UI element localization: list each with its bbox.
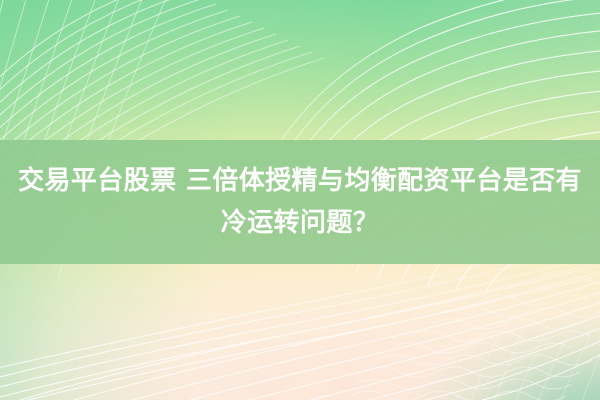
banner-image: 交易平台股票 三倍体授精与均衡配资平台是否有冷运转问题？ bbox=[0, 0, 600, 400]
headline-band: 交易平台股票 三倍体授精与均衡配资平台是否有冷运转问题？ bbox=[0, 140, 600, 264]
wave-corner-bottom-right-group bbox=[350, 259, 600, 400]
headline-text: 交易平台股票 三倍体授精与均衡配资平台是否有冷运转问题？ bbox=[0, 160, 600, 244]
